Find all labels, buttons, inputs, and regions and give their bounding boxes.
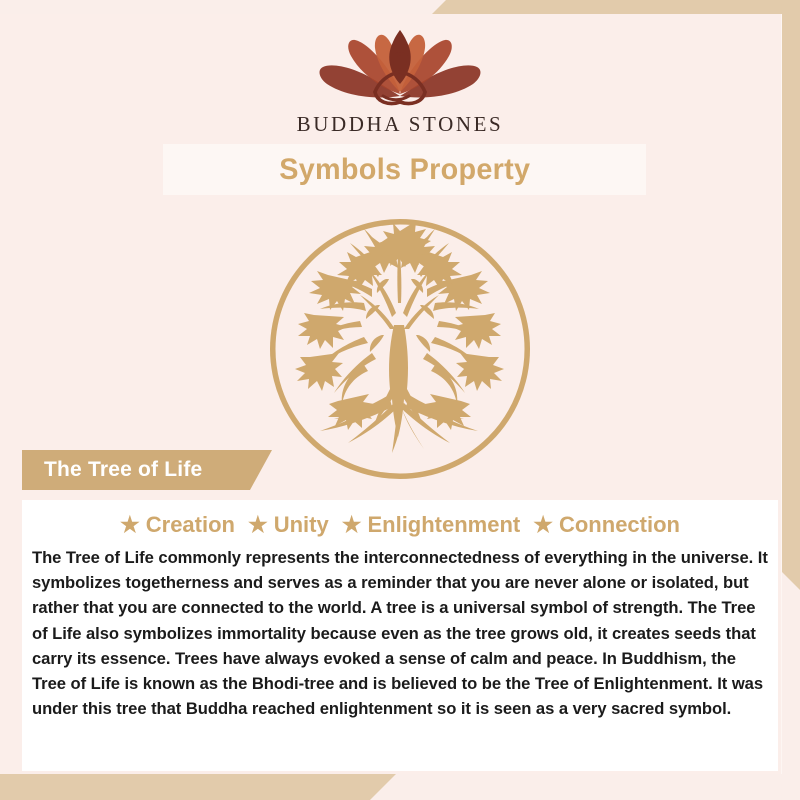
brand-name: BUDDHA STONES — [0, 112, 800, 137]
keyword-item: ★ Unity — [248, 512, 329, 538]
description-paragraph: The Tree of Life commonly represents the… — [32, 545, 768, 722]
star-icon: ★ — [120, 514, 140, 536]
title-banner: Symbols Property — [163, 144, 646, 195]
poster-root: BUDDHA STONES Symbols Property — [0, 0, 800, 800]
star-icon: ★ — [342, 514, 362, 536]
tree-of-life-icon — [268, 217, 532, 481]
brand-logo: BUDDHA STONES — [0, 22, 800, 137]
star-icon: ★ — [248, 514, 268, 536]
keyword-label: Enlightenment — [367, 512, 520, 538]
section-tag: The Tree of Life — [22, 450, 272, 490]
keyword-label: Unity — [274, 512, 329, 538]
content-card: ★ Creation ★ Unity ★ Enlightenment ★ Con… — [22, 500, 778, 771]
keyword-label: Creation — [146, 512, 235, 538]
decoration-bottom-left-bar — [0, 770, 400, 800]
keyword-list: ★ Creation ★ Unity ★ Enlightenment ★ Con… — [22, 500, 778, 538]
lotus-meditation-icon — [305, 22, 495, 110]
keyword-item: ★ Connection — [533, 512, 680, 538]
star-icon: ★ — [533, 514, 553, 536]
keyword-label: Connection — [559, 512, 680, 538]
keyword-item: ★ Enlightenment — [342, 512, 521, 538]
page-title: Symbols Property — [279, 153, 530, 187]
tree-of-life-illustration — [268, 217, 532, 481]
keyword-item: ★ Creation — [120, 512, 235, 538]
section-tag-label: The Tree of Life — [22, 458, 202, 482]
